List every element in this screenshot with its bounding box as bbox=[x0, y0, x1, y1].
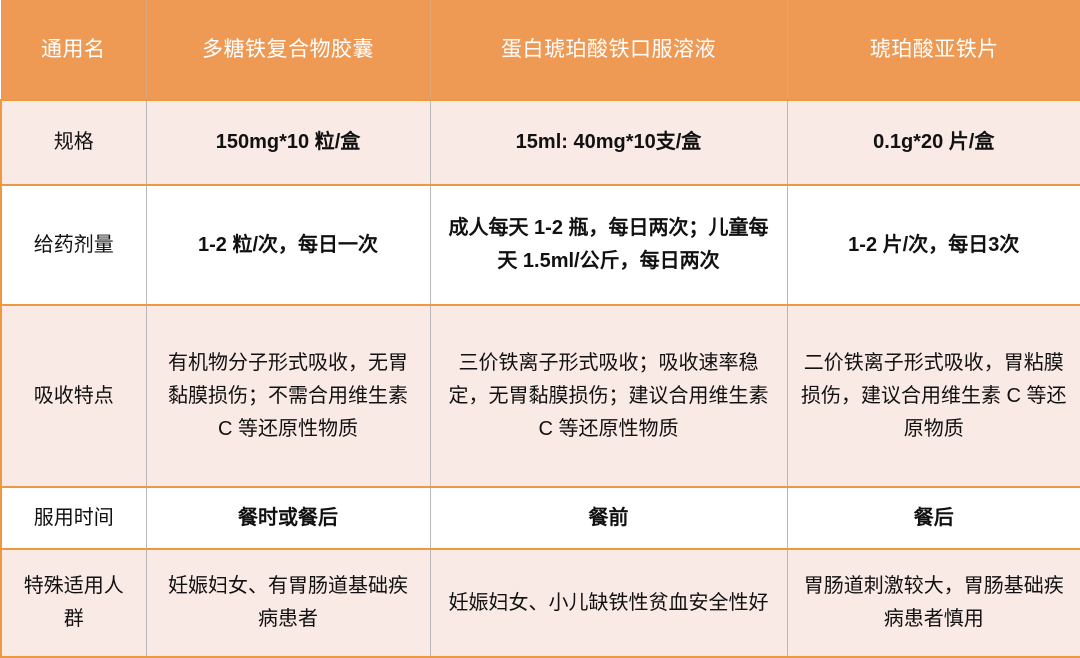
table-row: 给药剂量 1-2 粒/次，每日一次 成人每天 1-2 瓶，每日两次；儿童每天 1… bbox=[1, 185, 1080, 305]
cell-specification-protein: 15ml: 40mg*10支/盒 bbox=[430, 100, 787, 185]
table-row: 服用时间 餐时或餐后 餐前 餐后 bbox=[1, 487, 1080, 549]
cell-dosage-protein: 成人每天 1-2 瓶，每日两次；儿童每天 1.5ml/公斤，每日两次 bbox=[430, 185, 787, 305]
cell-specification-psi: 150mg*10 粒/盒 bbox=[146, 100, 430, 185]
cell-special-population-ferrous: 胃肠道刺激较大，胃肠基础疾病患者慎用 bbox=[787, 549, 1080, 657]
cell-administration-time-protein: 餐前 bbox=[430, 487, 787, 549]
row-label-special-population: 特殊适用人群 bbox=[1, 549, 146, 657]
column-header-protein: 蛋白琥珀酸铁口服溶液 bbox=[430, 0, 787, 100]
cell-special-population-protein: 妊娠妇女、小儿缺铁性贫血安全性好 bbox=[430, 549, 787, 657]
cell-administration-time-psi: 餐时或餐后 bbox=[146, 487, 430, 549]
header-row: 通用名 多糖铁复合物胶囊 蛋白琥珀酸铁口服溶液 琥珀酸亚铁片 bbox=[1, 0, 1080, 100]
row-label-administration-time: 服用时间 bbox=[1, 487, 146, 549]
cell-absorption-protein: 三价铁离子形式吸收；吸收速率稳定，无胃黏膜损伤；建议合用维生素 C 等还原性物质 bbox=[430, 305, 787, 487]
row-label-specification: 规格 bbox=[1, 100, 146, 185]
cell-dosage-ferrous: 1-2 片/次，每日3次 bbox=[787, 185, 1080, 305]
table-body: 规格 150mg*10 粒/盒 15ml: 40mg*10支/盒 0.1g*20… bbox=[1, 100, 1080, 657]
column-header-psi: 多糖铁复合物胶囊 bbox=[146, 0, 430, 100]
table-header: 通用名 多糖铁复合物胶囊 蛋白琥珀酸铁口服溶液 琥珀酸亚铁片 bbox=[1, 0, 1080, 100]
column-header-label: 通用名 bbox=[1, 0, 146, 100]
cell-specification-ferrous: 0.1g*20 片/盒 bbox=[787, 100, 1080, 185]
column-header-ferrous: 琥珀酸亚铁片 bbox=[787, 0, 1080, 100]
table-row: 特殊适用人群 妊娠妇女、有胃肠道基础疾病患者 妊娠妇女、小儿缺铁性贫血安全性好 … bbox=[1, 549, 1080, 657]
comparison-table-container: 通用名 多糖铁复合物胶囊 蛋白琥珀酸铁口服溶液 琥珀酸亚铁片 规格 150mg*… bbox=[0, 0, 1080, 658]
cell-absorption-ferrous: 二价铁离子形式吸收，胃粘膜损伤，建议合用维生素 C 等还原物质 bbox=[787, 305, 1080, 487]
cell-administration-time-ferrous: 餐后 bbox=[787, 487, 1080, 549]
cell-dosage-psi: 1-2 粒/次，每日一次 bbox=[146, 185, 430, 305]
iron-supplement-comparison-table: 通用名 多糖铁复合物胶囊 蛋白琥珀酸铁口服溶液 琥珀酸亚铁片 规格 150mg*… bbox=[0, 0, 1080, 658]
table-row: 规格 150mg*10 粒/盒 15ml: 40mg*10支/盒 0.1g*20… bbox=[1, 100, 1080, 185]
table-row: 吸收特点 有机物分子形式吸收，无胃黏膜损伤；不需合用维生素 C 等还原性物质 三… bbox=[1, 305, 1080, 487]
row-label-absorption: 吸收特点 bbox=[1, 305, 146, 487]
cell-special-population-psi: 妊娠妇女、有胃肠道基础疾病患者 bbox=[146, 549, 430, 657]
cell-absorption-psi: 有机物分子形式吸收，无胃黏膜损伤；不需合用维生素 C 等还原性物质 bbox=[146, 305, 430, 487]
row-label-dosage: 给药剂量 bbox=[1, 185, 146, 305]
